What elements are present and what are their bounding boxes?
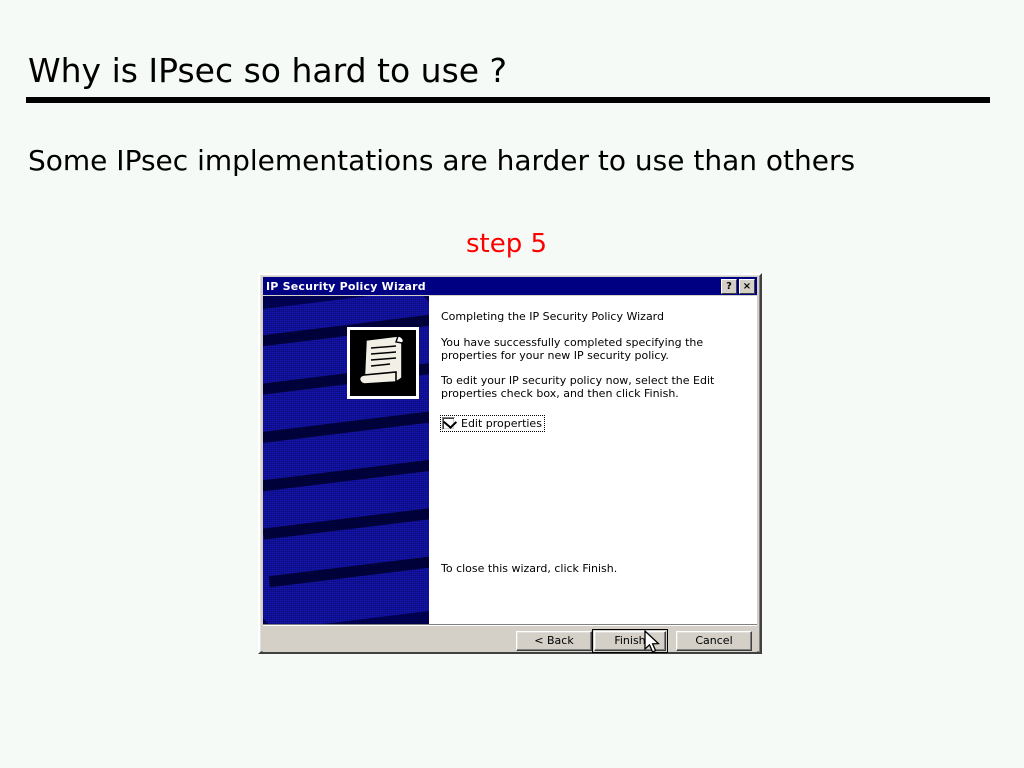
edit-properties-checkbox[interactable] [442,417,455,430]
banner-text-line [263,451,429,492]
dialog-titlebar[interactable]: IP Security Policy Wizard ? × [263,277,757,295]
page-title: Why is IPsec so hard to use ? [28,51,507,91]
slide-subtitle: Some IPsec implementations are harder to… [28,143,855,179]
wizard-paragraph-1: You have successfully completed specifyi… [441,336,737,362]
ip-security-policy-wizard-dialog[interactable]: IP Security Policy Wizard ? × [258,273,762,654]
dialog-client-area: Completing the IP Security Policy Wizard… [263,296,757,624]
checkmark-icon [443,416,457,429]
dialog-title-text: IP Security Policy Wizard [266,280,719,293]
cancel-button[interactable]: Cancel [676,631,752,651]
dialog-button-bar: < Back Finish Cancel [263,624,757,652]
help-icon[interactable]: ? [721,279,737,294]
wizard-closing-note: To close this wizard, click Finish. [441,562,617,575]
wizard-banner-graphic [263,296,429,624]
step-label: step 5 [466,228,547,260]
banner-text-line [269,546,429,587]
edit-properties-checkbox-row[interactable]: Edit properties [441,416,544,431]
edit-properties-label[interactable]: Edit properties [461,417,542,430]
banner-text-line [263,498,429,539]
finish-button[interactable]: Finish [592,629,668,653]
banner-text-line [263,403,429,444]
back-button[interactable]: < Back [516,631,592,651]
title-divider [26,97,990,103]
wizard-heading: Completing the IP Security Policy Wizard [441,310,743,324]
scroll-document-icon [347,327,419,399]
finish-button-label: Finish [594,631,666,651]
wizard-paragraph-2: To edit your IP security policy now, sel… [441,374,737,400]
close-icon[interactable]: × [739,279,755,294]
